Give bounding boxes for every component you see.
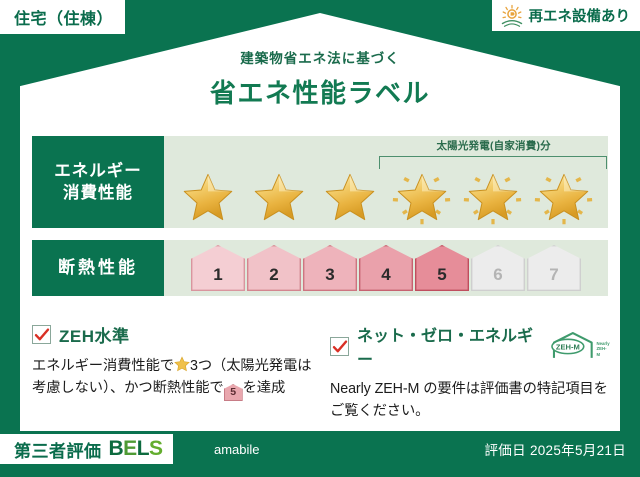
insulation-house-label: 7 [549,265,558,285]
criteria-net-zero-title: ネット・ゼロ・エネルギー [357,322,538,370]
insulation-label-text: 断熱性能 [58,257,138,280]
insulation-house-label: 3 [325,265,334,285]
zeh-m-logo: ZEH-M Nearly ZEH-M [550,331,610,361]
evaluation-date-value: 2025年5月21日 [530,439,626,459]
insulation-scale: 1234567 [164,240,608,296]
label-title: 省エネ性能ラベル [0,73,640,110]
bels-letter: L [137,437,149,460]
energy-consumption-label: エネルギー 消費性能 [32,136,164,228]
third-party-label: 第三者評価 [14,437,102,462]
criteria-zeh-text: エネルギー消費性能で3つ（太陽光発電は考慮しない）、かつ断熱性能で5を達成 [32,355,314,401]
energy-performance-label: 住宅（住棟） 再エネ設備あり 建築 [0,0,640,477]
criteria-zeh-title: ZEH水準 [59,322,130,347]
insulation-house-1: 1 [191,245,245,291]
label-subtitle: 建築物省エネ法に基づく [0,47,640,67]
star-1 [177,168,239,226]
insulation-house-label: 1 [213,265,222,285]
insulation-house-7: 7 [527,245,581,291]
star-icon [251,170,307,224]
energy-consumption-row: エネルギー 消費性能 太陽光発電(自家消費)分 [32,136,608,228]
star-4 [391,168,453,226]
label-footer: 第三者評価 BELS amabile 評価日 2025年5月21日 [0,431,640,477]
criteria-net-zero: ネット・ゼロ・エネルギー ZEH-M Nearly ZEH-M Nearly Z… [330,322,610,422]
bels-logo: BELS [109,437,163,461]
inline-star-icon [174,356,190,372]
insulation-house-6: 6 [471,245,525,291]
star-rating [164,168,608,226]
building-type-tag-label: 住宅（住棟） [14,5,113,29]
evaluation-date: 評価日 2025年5月21日 [484,434,626,464]
star-5 [462,168,524,226]
insulation-house-5: 5 [415,245,469,291]
energy-label-line2: 消費性能 [63,182,133,204]
insulation-house-label: 4 [381,265,390,285]
owner-name: amabile [214,434,260,464]
energy-label-line1: エネルギー [54,160,142,182]
inline-level-badge: 5 [224,384,243,401]
insulation-body: 1234567 [164,240,608,296]
insulation-performance-row: 断熱性能 1234567 [32,240,608,296]
criteria-zeh-text-part1: エネルギー消費性能で [32,358,174,374]
zeh-m-caption-line2: ZEH-M [597,346,607,356]
insulation-house-4: 4 [359,245,413,291]
bels-letter: S [149,437,163,460]
criteria-net-zero-head: ネット・ゼロ・エネルギー ZEH-M Nearly ZEH-M [330,322,610,370]
star-icon [536,170,592,224]
energy-consumption-body: 太陽光発電(自家消費)分 [164,136,608,228]
building-type-tag: 住宅（住棟） [0,0,125,34]
insulation-label: 断熱性能 [32,240,164,296]
insulation-house-3: 3 [303,245,357,291]
bels-letter: E [123,437,137,460]
criteria-net-zero-text: Nearly ZEH-M の要件は評価書の特記項目をご覧ください。 [330,378,610,422]
star-6 [533,168,595,226]
star-icon [322,170,378,224]
criteria-zeh: ZEH水準 エネルギー消費性能で3つ（太陽光発電は考慮しない）、かつ断熱性能で5… [32,322,314,401]
checkbox-checked-icon [330,337,349,356]
star-2 [248,168,310,226]
solar-caption: 太陽光発電(自家消費)分 [379,138,608,153]
zeh-m-logo-caption: Nearly ZEH-M [597,341,611,361]
evaluation-date-label: 評価日 [484,439,525,459]
star-icon [180,170,236,224]
star-icon [394,170,450,224]
star-icon [465,170,521,224]
renewable-energy-tag-label: 再エネ設備あり [529,5,631,26]
svg-text:ZEH-M: ZEH-M [556,343,580,352]
insulation-house-label: 6 [493,265,502,285]
renewable-energy-tag: 再エネ設備あり [492,0,640,31]
criteria-zeh-head: ZEH水準 [32,322,314,347]
bels-badge: 第三者評価 BELS [0,434,173,464]
insulation-house-label: 2 [269,265,278,285]
zeh-m-caption-line1: Nearly [597,341,610,346]
bels-letter: B [109,437,124,460]
checkbox-checked-icon [32,325,51,344]
star-3 [319,168,381,226]
insulation-house-2: 2 [247,245,301,291]
page-title: 建築物省エネ法に基づく 省エネ性能ラベル [0,47,640,110]
sun-icon [500,4,524,28]
criteria-zeh-text-part3: を達成 [243,380,286,396]
insulation-house-label: 5 [437,265,446,285]
